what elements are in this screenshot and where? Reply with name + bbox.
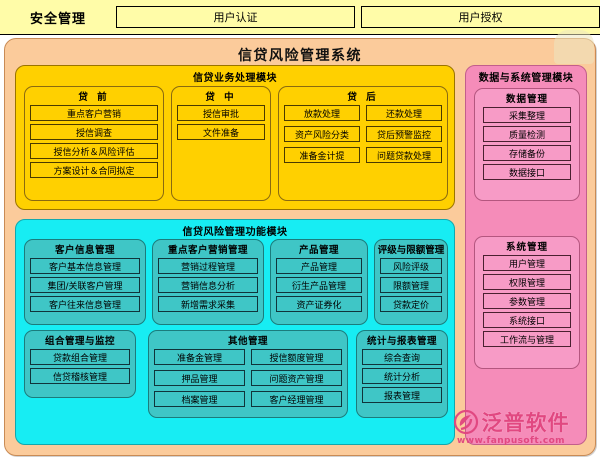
item-loan-disbursement[interactable]: 放款处理 bbox=[284, 105, 360, 121]
item-derivative-product-mgmt[interactable]: 衍生产品管理 bbox=[276, 277, 362, 293]
group-key-customer-marketing-items: 营销过程管理 营销信息分析 新增需求采集 bbox=[153, 256, 263, 312]
item-workflow-management[interactable]: 工作流与管理 bbox=[483, 331, 571, 347]
item-provision-accrual[interactable]: 准备金计提 bbox=[284, 147, 360, 163]
group-portfolio-monitoring-title: 组合管理与监控 bbox=[25, 331, 135, 347]
module-credit-business[interactable]: 信贷业务处理模块 贷 前 重点客户营销 授信调查 授信分析＆风险评估 方案设计＆… bbox=[15, 65, 455, 210]
item-customer-basic-info[interactable]: 客户基本信息管理 bbox=[30, 258, 140, 274]
item-archive-mgmt[interactable]: 档案管理 bbox=[154, 391, 245, 407]
group-rating-limit[interactable]: 评级与限额管理 风险评级 限额管理 贷款定价 bbox=[374, 239, 448, 325]
group-statistics-report-title: 统计与报表管理 bbox=[357, 331, 447, 347]
system-container: 信贷风险管理系统 信贷业务处理模块 贷 前 重点客户营销 授信调查 授信分析＆风… bbox=[4, 38, 596, 456]
item-risk-rating[interactable]: 风险评级 bbox=[380, 258, 442, 274]
item-product-mgmt[interactable]: 产品管理 bbox=[276, 258, 362, 274]
item-storage-backup[interactable]: 存储备份 bbox=[483, 145, 571, 161]
item-customer-transaction-info[interactable]: 客户往来信息管理 bbox=[30, 296, 140, 312]
module-data-system[interactable]: 数据与系统管理模块 数据管理 采集整理 质量检测 存储备份 数据接口 系统管理 … bbox=[465, 65, 587, 445]
item-marketing-info-analysis[interactable]: 营销信息分析 bbox=[158, 277, 258, 293]
watermark-corner-artifact bbox=[554, 30, 594, 64]
group-post-loan-items: 放款处理 还款处理 资产风险分类 贷后预警监控 准备金计提 问题贷款处理 bbox=[279, 103, 447, 163]
item-key-customer-marketing[interactable]: 重点客户营销 bbox=[30, 105, 158, 121]
group-product-management[interactable]: 产品管理 产品管理 衍生产品管理 资产证券化 bbox=[270, 239, 368, 325]
item-post-loan-warning-monitoring[interactable]: 贷后预警监控 bbox=[366, 126, 442, 142]
group-statistics-report[interactable]: 统计与报表管理 综合查询 统计分析 报表管理 bbox=[356, 330, 448, 418]
group-data-management-items: 采集整理 质量检测 存储备份 数据接口 bbox=[475, 105, 579, 180]
group-pre-loan-title: 贷 前 bbox=[25, 87, 163, 103]
item-collateral-mgmt[interactable]: 押品管理 bbox=[154, 370, 245, 386]
group-in-loan[interactable]: 贷 中 授信审批 文件准备 bbox=[171, 86, 271, 201]
item-credit-investigation[interactable]: 授信调查 bbox=[30, 124, 158, 140]
item-user-management[interactable]: 用户管理 bbox=[483, 255, 571, 271]
group-other-management-items: 准备金管理 授信额度管理 押品管理 问题资产管理 档案管理 客户经理管理 bbox=[149, 347, 347, 407]
user-authorization-button[interactable]: 用户授权 bbox=[361, 6, 600, 28]
item-system-interface[interactable]: 系统接口 bbox=[483, 312, 571, 328]
item-statistical-analysis[interactable]: 统计分析 bbox=[362, 368, 442, 384]
group-system-management[interactable]: 系统管理 用户管理 权限管理 参数管理 系统接口 工作流与管理 bbox=[474, 236, 580, 369]
page-title: 信贷风险管理系统 bbox=[5, 45, 595, 65]
group-in-loan-items: 授信审批 文件准备 bbox=[172, 103, 270, 140]
group-customer-info-items: 客户基本信息管理 集团/关联客户管理 客户往来信息管理 bbox=[25, 256, 145, 312]
item-problem-loan-handling[interactable]: 问题贷款处理 bbox=[366, 147, 442, 163]
item-new-demand-collection[interactable]: 新增需求采集 bbox=[158, 296, 258, 312]
security-toolbar: 安全管理 用户认证 用户授权 bbox=[0, 0, 600, 35]
item-account-manager-mgmt[interactable]: 客户经理管理 bbox=[251, 391, 342, 407]
module-risk-management-title: 信贷风险管理功能模块 bbox=[16, 220, 454, 238]
item-repayment-processing[interactable]: 还款处理 bbox=[366, 105, 442, 121]
item-limit-management[interactable]: 限额管理 bbox=[380, 277, 442, 293]
item-quality-check[interactable]: 质量检测 bbox=[483, 126, 571, 142]
group-post-loan-title: 贷 后 bbox=[279, 87, 447, 103]
group-data-management[interactable]: 数据管理 采集整理 质量检测 存储备份 数据接口 bbox=[474, 88, 580, 201]
item-parameter-management[interactable]: 参数管理 bbox=[483, 293, 571, 309]
user-authentication-button[interactable]: 用户认证 bbox=[116, 6, 355, 28]
group-rating-limit-items: 风险评级 限额管理 贷款定价 bbox=[375, 256, 447, 312]
item-asset-securitization[interactable]: 资产证券化 bbox=[276, 296, 362, 312]
group-key-customer-marketing-title: 重点客户营销管理 bbox=[153, 240, 263, 256]
item-data-interface[interactable]: 数据接口 bbox=[483, 164, 571, 180]
group-system-management-items: 用户管理 权限管理 参数管理 系统接口 工作流与管理 bbox=[475, 253, 579, 347]
group-product-management-items: 产品管理 衍生产品管理 资产证券化 bbox=[271, 256, 367, 312]
item-document-preparation[interactable]: 文件准备 bbox=[177, 124, 265, 140]
group-product-management-title: 产品管理 bbox=[271, 240, 367, 256]
group-customer-info[interactable]: 客户信息管理 客户基本信息管理 集团/关联客户管理 客户往来信息管理 bbox=[24, 239, 146, 325]
item-data-collection[interactable]: 采集整理 bbox=[483, 107, 571, 123]
item-provision-mgmt[interactable]: 准备金管理 bbox=[154, 349, 245, 365]
group-data-management-title: 数据管理 bbox=[475, 89, 579, 105]
group-portfolio-monitoring[interactable]: 组合管理与监控 贷款组合管理 信贷稽核管理 bbox=[24, 330, 136, 398]
group-customer-info-title: 客户信息管理 bbox=[25, 240, 145, 256]
group-system-management-title: 系统管理 bbox=[475, 237, 579, 253]
item-marketing-process-mgmt[interactable]: 营销过程管理 bbox=[158, 258, 258, 274]
group-portfolio-monitoring-items: 贷款组合管理 信贷稽核管理 bbox=[25, 347, 135, 384]
item-comprehensive-query[interactable]: 综合查询 bbox=[362, 349, 442, 365]
item-credit-approval[interactable]: 授信审批 bbox=[177, 105, 265, 121]
group-pre-loan[interactable]: 贷 前 重点客户营销 授信调查 授信分析＆风险评估 方案设计＆合同拟定 bbox=[24, 86, 164, 201]
item-credit-analysis-risk-assessment[interactable]: 授信分析＆风险评估 bbox=[30, 143, 158, 159]
item-group-related-customer[interactable]: 集团/关联客户管理 bbox=[30, 277, 140, 293]
group-key-customer-marketing[interactable]: 重点客户营销管理 营销过程管理 营销信息分析 新增需求采集 bbox=[152, 239, 264, 325]
security-label: 安全管理 bbox=[0, 8, 116, 27]
item-problem-asset-mgmt[interactable]: 问题资产管理 bbox=[251, 370, 342, 386]
item-scheme-design-contract[interactable]: 方案设计＆合同拟定 bbox=[30, 162, 158, 178]
module-risk-management[interactable]: 信贷风险管理功能模块 客户信息管理 客户基本信息管理 集团/关联客户管理 客户往… bbox=[15, 219, 455, 445]
group-other-management[interactable]: 其他管理 准备金管理 授信额度管理 押品管理 问题资产管理 档案管理 客户经理管… bbox=[148, 330, 348, 418]
item-permission-management[interactable]: 权限管理 bbox=[483, 274, 571, 290]
item-credit-line-mgmt[interactable]: 授信额度管理 bbox=[251, 349, 342, 365]
item-report-management[interactable]: 报表管理 bbox=[362, 387, 442, 403]
group-pre-loan-items: 重点客户营销 授信调查 授信分析＆风险评估 方案设计＆合同拟定 bbox=[25, 103, 163, 178]
item-credit-audit-mgmt[interactable]: 信贷稽核管理 bbox=[30, 368, 130, 384]
group-in-loan-title: 贷 中 bbox=[172, 87, 270, 103]
module-data-system-title: 数据与系统管理模块 bbox=[466, 66, 586, 84]
item-loan-pricing[interactable]: 贷款定价 bbox=[380, 296, 442, 312]
module-credit-business-title: 信贷业务处理模块 bbox=[16, 66, 454, 84]
item-loan-portfolio-mgmt[interactable]: 贷款组合管理 bbox=[30, 349, 130, 365]
group-post-loan[interactable]: 贷 后 放款处理 还款处理 资产风险分类 贷后预警监控 准备金计提 问题贷款处理 bbox=[278, 86, 448, 201]
group-rating-limit-title: 评级与限额管理 bbox=[375, 240, 447, 256]
group-other-management-title: 其他管理 bbox=[149, 331, 347, 347]
item-asset-risk-classification[interactable]: 资产风险分类 bbox=[284, 126, 360, 142]
group-statistics-report-items: 综合查询 统计分析 报表管理 bbox=[357, 347, 447, 403]
